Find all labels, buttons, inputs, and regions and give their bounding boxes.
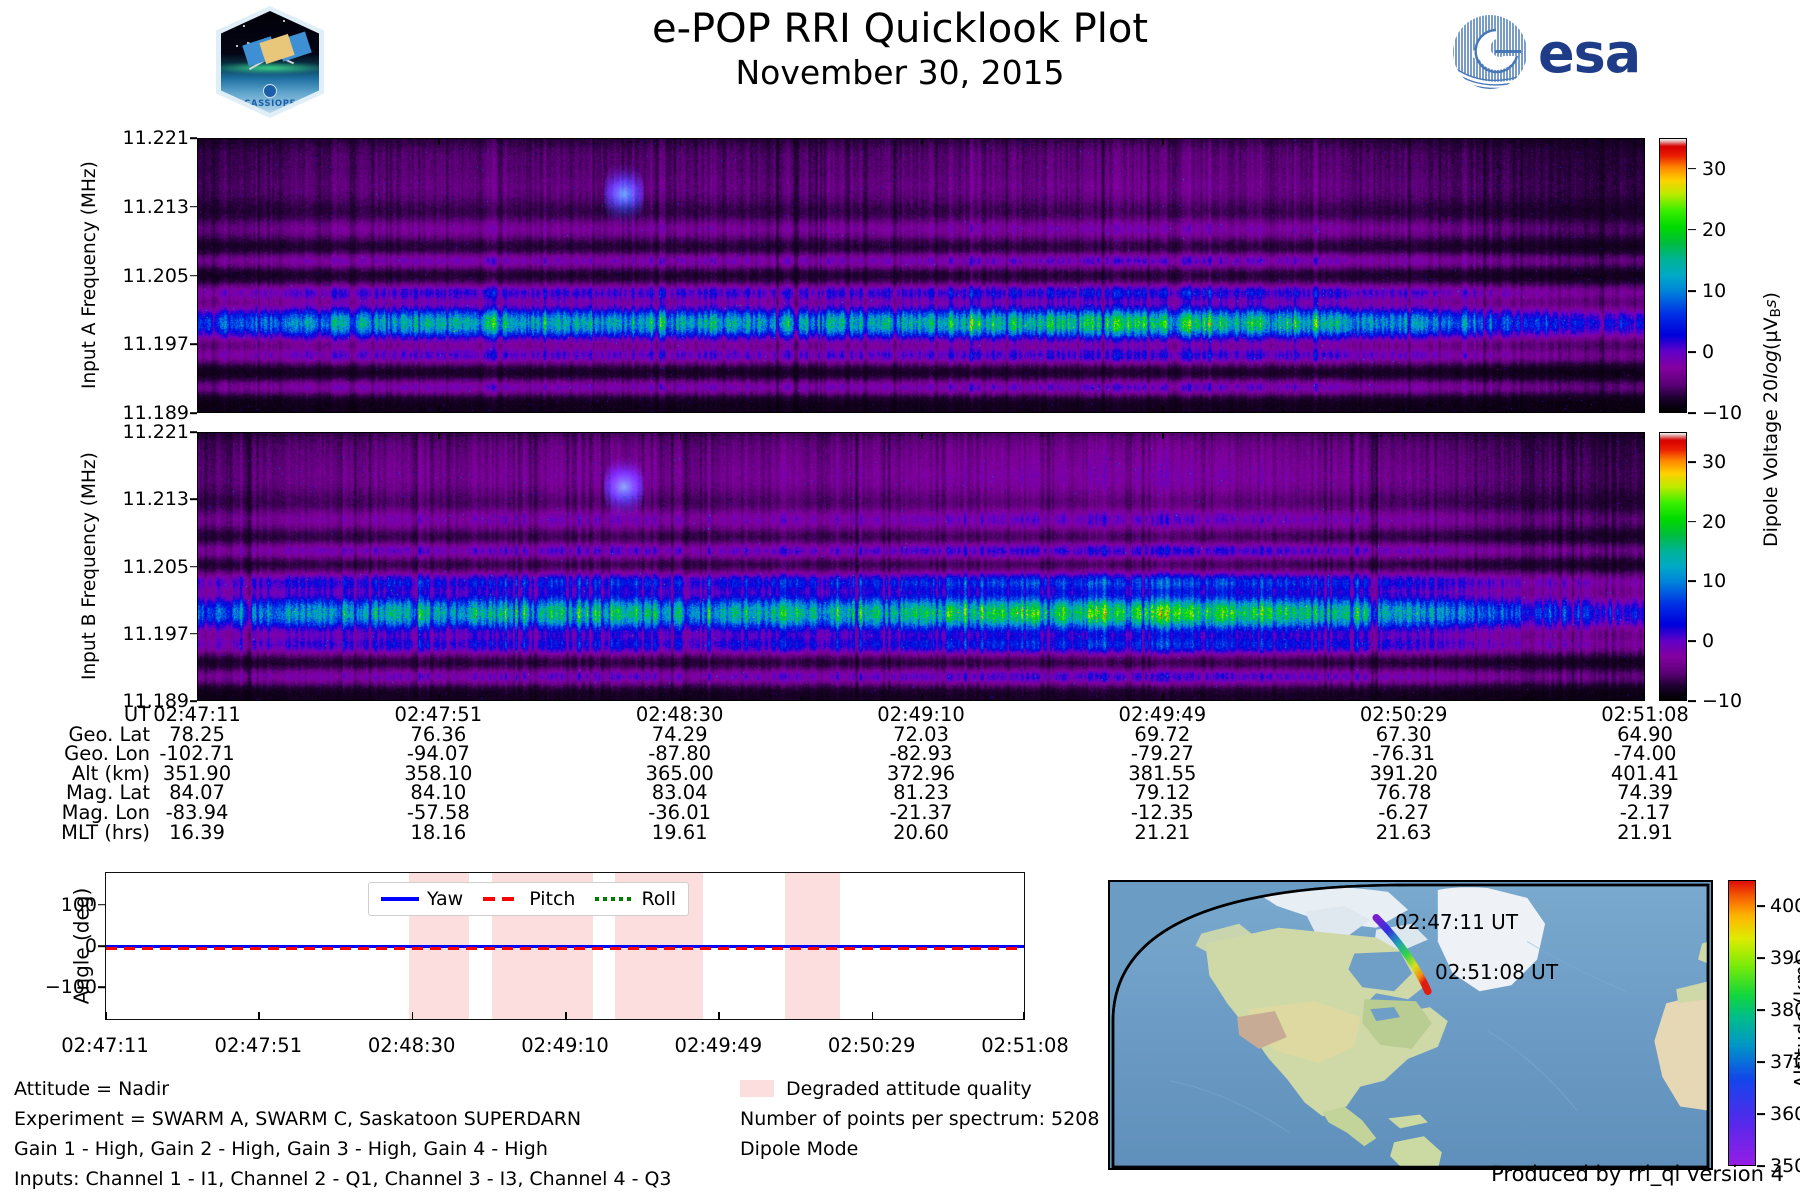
footer-mode: Dipole Mode <box>740 1134 1099 1164</box>
footer-experiment: Experiment = SWARM A, SWARM C, Saskatoon… <box>14 1104 672 1134</box>
axis-minor-tick-mark <box>1524 409 1525 413</box>
colorbar-title: Dipole Voltage 20log(µVBs) <box>1760 138 1784 701</box>
axis-tick-label: 02:47:51 <box>215 1034 303 1057</box>
axis-tick-label: 02:51:08 <box>981 1034 1069 1057</box>
altitude-tick-label: 360 <box>1770 1103 1800 1125</box>
axis-tick-mark <box>680 406 682 413</box>
colorbar-tick-mark <box>1688 700 1696 702</box>
axis-tick-mark <box>680 138 682 145</box>
axis-tick-mark <box>190 343 197 345</box>
axis-tick-mark <box>1404 432 1406 439</box>
axis-tick-mark <box>190 498 197 500</box>
axis-tick-mark <box>718 1012 720 1020</box>
axis-minor-tick-mark <box>1283 697 1284 701</box>
legend-item-roll: Roll <box>595 888 676 910</box>
legend-item-yaw: Yaw <box>381 888 463 910</box>
spectrogram-b-ylabel: Input B Frequency (MHz) <box>79 432 100 701</box>
colorbar-tick-label: −10 <box>1702 690 1742 712</box>
degraded-legend-row: Degraded attitude quality <box>740 1074 1099 1104</box>
colorbar-a-gradient <box>1660 139 1686 412</box>
colorbar-tick-mark <box>1688 521 1696 523</box>
altitude-tick-label: 400 <box>1770 895 1800 917</box>
axis-tick-label: 02:49:49 <box>675 1034 763 1057</box>
colorbar-tick-mark <box>1688 290 1696 292</box>
axis-tick-mark <box>872 1012 874 1020</box>
axis-tick-label: 02:50:29 <box>828 1034 916 1057</box>
axis-tick-mark <box>1404 406 1406 413</box>
axis-tick-mark <box>258 1012 260 1020</box>
table-cell: 21.21 <box>1134 823 1190 843</box>
colorbar-tick-label: 20 <box>1702 511 1726 533</box>
axis-tick-mark <box>190 431 197 433</box>
axis-tick-mark <box>921 432 923 439</box>
axis-tick-label: 11.197 <box>123 333 189 355</box>
axis-tick-mark <box>98 986 105 988</box>
colorbar-a <box>1659 138 1687 413</box>
colorbar-tick-label: 0 <box>1702 341 1714 363</box>
axis-minor-tick-mark <box>559 409 560 413</box>
footer-points: Number of points per spectrum: 5208 <box>740 1104 1099 1134</box>
axis-tick-label: 11.221 <box>123 127 189 149</box>
table-row-label: Mag. Lon <box>0 803 150 823</box>
axis-tick-mark <box>412 1012 414 1020</box>
colorbar-tick-label: 10 <box>1702 280 1726 302</box>
axis-tick-mark <box>98 904 105 906</box>
esa-logo-icon: esa <box>1452 14 1692 90</box>
axis-tick-label: 100 <box>61 894 97 916</box>
axis-tick-mark <box>1643 406 1645 413</box>
colorbar-tick-mark <box>1688 640 1696 642</box>
colorbar-tick-mark <box>1688 581 1696 583</box>
ground-track-map: 02:47:11 UT 02:51:08 UT <box>1108 880 1713 1170</box>
table-values-cell: 16.3918.1619.6120.6021.2121.6321.91 <box>150 823 1650 843</box>
colorbar-tick-mark <box>1688 351 1696 353</box>
axis-tick-mark <box>438 138 440 145</box>
axis-tick-mark <box>1404 138 1406 145</box>
cassiope-logo-icon: CASSIOPE <box>216 6 324 118</box>
axis-tick-mark <box>190 275 197 277</box>
colorbar-tick-label: 30 <box>1702 158 1726 180</box>
colorbar-tick-label: 20 <box>1702 219 1726 241</box>
altitude-tick-mark <box>1757 1113 1765 1115</box>
axis-tick-mark <box>1643 432 1645 439</box>
axis-tick-mark <box>438 432 440 439</box>
table-cell: 20.60 <box>893 823 949 843</box>
axis-tick-label: 02:47:11 <box>61 1034 149 1057</box>
legend-label-yaw: Yaw <box>427 888 463 910</box>
axis-tick-label: 11.221 <box>123 421 189 443</box>
table-row: MLT (hrs)16.3918.1619.6120.6021.2121.632… <box>0 823 1650 843</box>
axis-tick-mark <box>190 633 197 635</box>
table-row-label: Geo. Lon <box>0 744 150 764</box>
axis-tick-label: 11.213 <box>123 488 189 510</box>
axis-tick-mark <box>1162 432 1164 439</box>
altitude-tick-mark <box>1757 905 1765 907</box>
colorbar-tick-mark <box>1688 229 1696 231</box>
footer-inputs: Inputs: Channel 1 - I1, Channel 2 - Q1, … <box>14 1164 672 1194</box>
yaw-line-icon <box>381 897 419 900</box>
axis-tick-label: 11.205 <box>123 556 189 578</box>
spectrogram-b-image <box>197 432 1645 701</box>
table-cell: 19.61 <box>652 823 708 843</box>
ancillary-data-table: UT02:47:1102:47:5102:48:3002:49:1002:49:… <box>0 705 1650 842</box>
table-row-label: UT <box>0 705 150 725</box>
axis-tick-label: 11.213 <box>123 196 189 218</box>
axis-tick-mark <box>438 406 440 413</box>
axis-tick-mark <box>1023 1012 1025 1020</box>
axis-tick-label: 11.197 <box>123 623 189 645</box>
axis-tick-mark <box>1162 138 1164 145</box>
axis-minor-tick-mark <box>318 409 319 413</box>
axis-tick-label: 02:48:30 <box>368 1034 456 1057</box>
axis-tick-mark <box>438 694 440 701</box>
colorbar-b <box>1659 432 1687 701</box>
attitude-legend: Yaw Pitch Roll <box>368 882 689 916</box>
axis-tick-mark <box>680 432 682 439</box>
axis-minor-tick-mark <box>800 409 801 413</box>
altitude-colorbar-gradient <box>1729 881 1755 1165</box>
axis-minor-tick-mark <box>800 697 801 701</box>
legend-item-pitch: Pitch <box>483 888 575 910</box>
table-cell: 16.39 <box>169 823 225 843</box>
axis-tick-mark <box>98 945 105 947</box>
axis-tick-mark <box>1643 694 1645 701</box>
footer-attitude: Attitude = Nadir <box>14 1074 672 1104</box>
axis-tick-label: 0 <box>85 935 97 957</box>
colorbar-tick-label: 0 <box>1702 630 1714 652</box>
table-cell: 21.91 <box>1617 823 1673 843</box>
altitude-tick-mark <box>1757 1009 1765 1011</box>
spectrogram-input-a: Input A Frequency (MHz) 11.22111.21311.2… <box>197 138 1645 413</box>
axis-tick-mark <box>197 694 199 701</box>
altitude-tick-mark <box>1757 957 1765 959</box>
axis-minor-tick-mark <box>1042 697 1043 701</box>
axis-tick-mark <box>565 1012 567 1020</box>
legend-label-pitch: Pitch <box>529 888 575 910</box>
axis-tick-label: −100 <box>45 976 97 998</box>
axis-minor-tick-mark <box>1042 409 1043 413</box>
colorbar-tick-label: 10 <box>1702 570 1726 592</box>
colorbar-tick-label: −10 <box>1702 402 1742 424</box>
colorbar-tick-mark <box>1688 168 1696 170</box>
axis-tick-mark <box>1643 138 1645 145</box>
map-end-label: 02:51:08 UT <box>1435 960 1558 984</box>
spectrogram-a-image <box>197 138 1645 413</box>
altitude-colorbar <box>1728 880 1756 1166</box>
axis-tick-mark <box>190 412 197 414</box>
axis-tick-mark <box>105 1012 107 1020</box>
table-cell: 21.63 <box>1376 823 1432 843</box>
legend-label-roll: Roll <box>641 888 676 910</box>
axis-tick-mark <box>197 432 199 439</box>
axis-tick-label: 11.205 <box>123 265 189 287</box>
axis-tick-mark <box>921 138 923 145</box>
axis-tick-mark <box>1404 694 1406 701</box>
svg-text:esa: esa <box>1538 22 1640 85</box>
axis-tick-mark <box>190 137 197 139</box>
attitude-line-pitch <box>106 947 1024 950</box>
altitude-colorbar-title: Altitude (km) <box>1790 957 1800 1088</box>
roll-line-icon <box>595 897 633 900</box>
map-start-label: 02:47:11 UT <box>1395 910 1518 934</box>
table-cell: 18.16 <box>410 823 466 843</box>
axis-tick-mark <box>190 206 197 208</box>
footer-left-text: Attitude = Nadir Experiment = SWARM A, S… <box>14 1074 672 1194</box>
quicklook-page: e-POP RRI Quicklook Plot November 30, 20… <box>0 0 1800 1200</box>
axis-minor-tick-mark <box>1524 697 1525 701</box>
axis-tick-mark <box>1162 694 1164 701</box>
axis-tick-mark <box>1162 406 1164 413</box>
axis-tick-mark <box>190 566 197 568</box>
attitude-plot: Yaw Pitch Roll Angle (deg) 1000−100 02:4… <box>105 872 1025 1020</box>
axis-minor-tick-mark <box>1283 409 1284 413</box>
degraded-legend-label: Degraded attitude quality <box>786 1078 1032 1100</box>
colorbar-b-gradient <box>1660 433 1686 700</box>
table-row-label: MLT (hrs) <box>0 823 150 843</box>
map-image: 02:47:11 UT 02:51:08 UT <box>1108 880 1713 1170</box>
spectrogram-input-b: Input B Frequency (MHz) 11.22111.21311.2… <box>197 432 1645 701</box>
axis-minor-tick-mark <box>318 697 319 701</box>
axis-tick-mark <box>197 138 199 145</box>
colorbar-tick-mark <box>1688 461 1696 463</box>
footer-middle-text: Degraded attitude quality Number of poin… <box>740 1074 1099 1164</box>
axis-tick-label: 02:49:10 <box>521 1034 609 1057</box>
axis-tick-mark <box>921 406 923 413</box>
axis-tick-mark <box>680 694 682 701</box>
spectrogram-a-ylabel: Input A Frequency (MHz) <box>79 138 100 413</box>
axis-tick-mark <box>197 406 199 413</box>
colorbar-tick-mark <box>1688 412 1696 414</box>
degraded-swatch-icon <box>740 1080 774 1097</box>
axis-tick-mark <box>190 700 197 702</box>
footer-gain: Gain 1 - High, Gain 2 - High, Gain 3 - H… <box>14 1134 672 1164</box>
axis-tick-mark <box>921 694 923 701</box>
axis-minor-tick-mark <box>559 697 560 701</box>
produced-by-label: Produced by rri_ql version 4 <box>1491 1162 1784 1186</box>
colorbar-tick-label: 30 <box>1702 451 1726 473</box>
altitude-tick-mark <box>1757 1061 1765 1063</box>
pitch-line-icon <box>483 897 521 900</box>
